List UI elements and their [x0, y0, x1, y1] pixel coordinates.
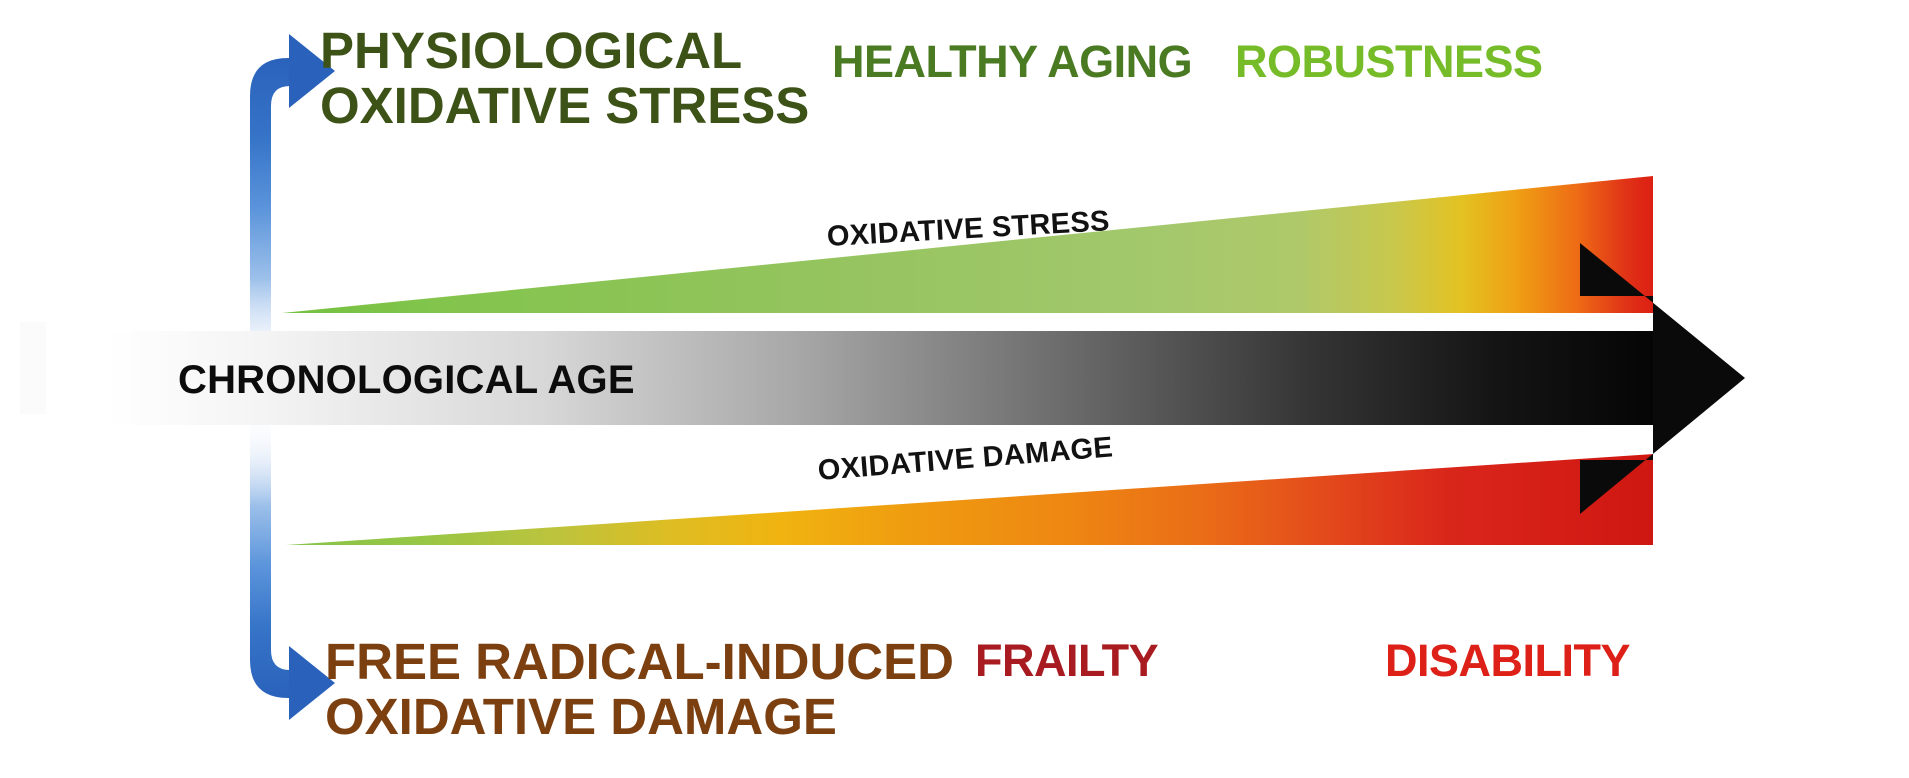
free-radical-line-2: OXIDATIVE DAMAGE: [325, 689, 954, 744]
healthy-aging-label: HEALTHY AGING: [832, 38, 1192, 87]
curved-arrow-down-icon: [250, 406, 335, 720]
scan-artifact-left: [20, 322, 46, 414]
chronological-age-caption: CHRONOLOGICAL AGE: [178, 358, 635, 403]
physiological-line-1: PHYSIOLOGICAL: [320, 23, 809, 78]
physiological-line-2: OXIDATIVE STRESS: [320, 78, 809, 133]
physiological-oxidative-stress-label: PHYSIOLOGICAL OXIDATIVE STRESS: [320, 23, 809, 133]
frailty-label: FRAILTY: [975, 637, 1158, 686]
free-radical-line-1: FREE RADICAL-INDUCED: [325, 634, 954, 689]
diagram-canvas: PHYSIOLOGICAL OXIDATIVE STRESS HEALTHY A…: [0, 0, 1909, 778]
free-radical-oxidative-damage-label: FREE RADICAL-INDUCED OXIDATIVE DAMAGE: [325, 634, 954, 744]
disability-label: DISABILITY: [1385, 637, 1630, 686]
robustness-label: ROBUSTNESS: [1235, 38, 1543, 87]
